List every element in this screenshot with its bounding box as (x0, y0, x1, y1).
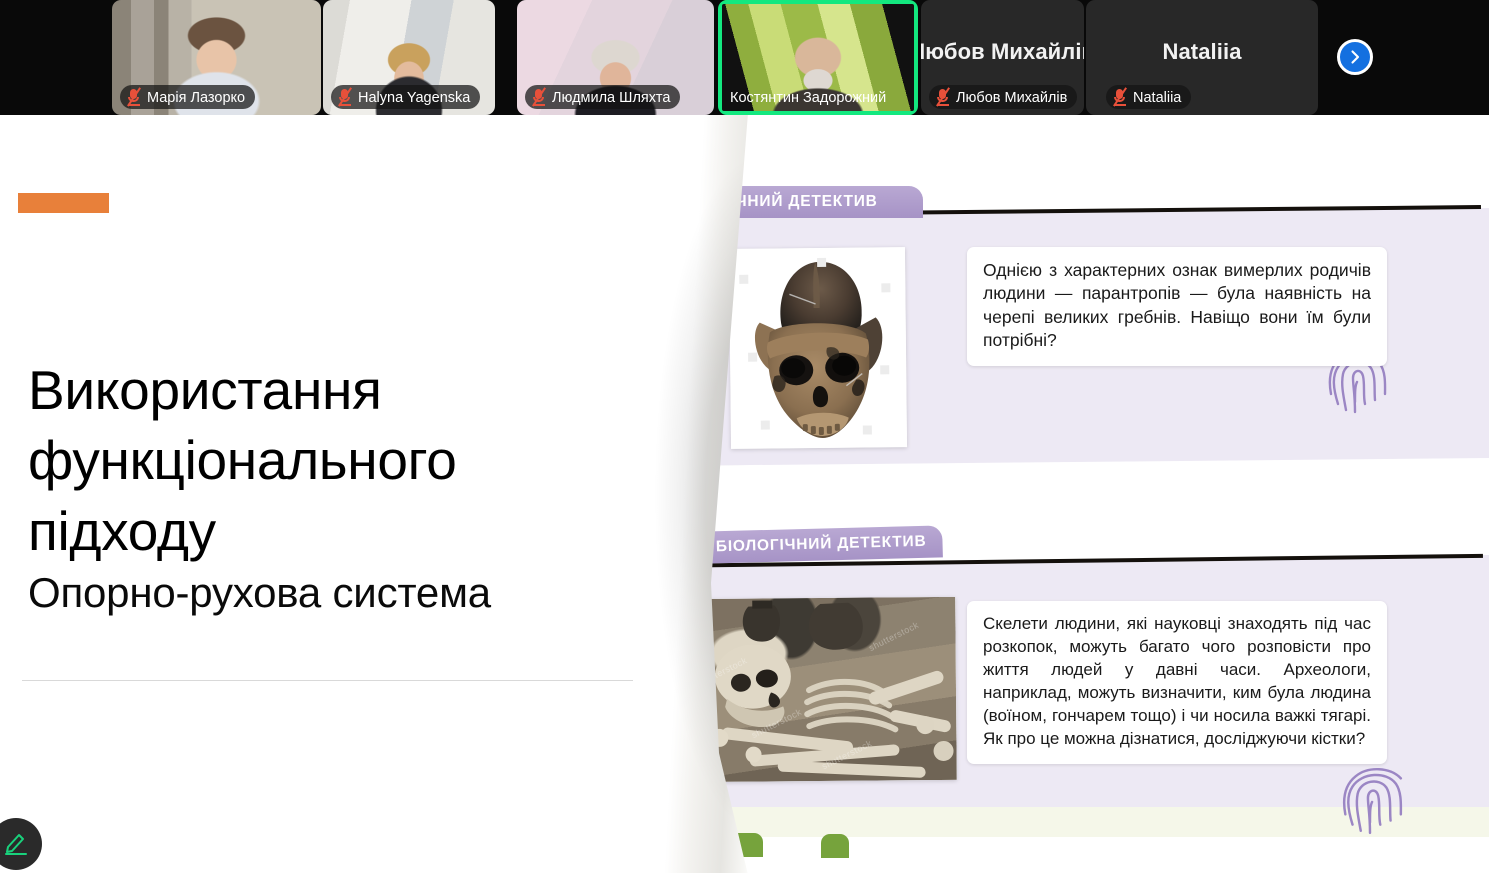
filmstrip-next-page-button[interactable] (1337, 39, 1373, 75)
participant-tile-4-active-speaker[interactable]: Костянтин Задорожний (718, 0, 918, 115)
watermark-dot (880, 365, 889, 374)
watermark-dot (748, 353, 757, 362)
microphone-muted-icon (337, 88, 352, 106)
participant-name-chip-3: Людмила Шляхта (525, 85, 680, 109)
participant-display-name-5: Любов Михайлів (921, 39, 1084, 65)
title-divider (22, 680, 642, 681)
participant-name-chip-6: Nataliia (1106, 85, 1191, 109)
participant-name-chip-4: Костянтин Задорожний (728, 85, 896, 109)
page-tab-2 (821, 834, 849, 858)
slide-accent-bar (18, 193, 109, 213)
fingerprint-icon (1333, 765, 1407, 844)
watermark-dot (739, 275, 748, 284)
participant-tile-5[interactable]: Любов Михайлів Любов Михайлів (921, 0, 1084, 115)
microphone-muted-icon (935, 88, 950, 106)
card-banner-label-2: БІОЛОГІЧНИЙ ДЕТЕКТИВ (716, 533, 927, 557)
card-banner-1: БІОЛОГІЧНИЙ ДЕТЕКТИВ (651, 186, 923, 218)
watermark-dot (817, 258, 826, 267)
participant-tile-6[interactable]: Nataliia Nataliia (1086, 0, 1318, 115)
card-1-question-text: Однією з характерних ознак вимерлих роди… (967, 247, 1387, 366)
chevron-right-icon (1346, 48, 1364, 66)
microphone-muted-icon (531, 88, 546, 106)
watermark-dot (863, 425, 872, 434)
participant-tile-2[interactable]: Halyna Yagenska (323, 0, 495, 115)
archaeological-skeleton-excavation-photo (690, 597, 957, 782)
participant-name-chip-5: Любов Михайлів (929, 85, 1077, 109)
shared-presentation-slide: Використання функціонального підходу Опо… (0, 115, 1489, 873)
watermark-dot (761, 421, 770, 430)
zoom-screen-share-window: Марія Лазорко Halyna Yagenska Людмила Шл… (0, 0, 1489, 873)
page-tab-1 (707, 833, 763, 857)
page-title: Використання функціонального підходу (28, 355, 648, 566)
participant-name-chip-2: Halyna Yagenska (331, 85, 480, 109)
card-banner-label-1: БІОЛОГІЧНИЙ ДЕТЕКТИВ (667, 193, 878, 211)
slide-title-block: Використання функціонального підходу Опо… (28, 355, 648, 619)
card-2-question-text: Скелети людини, які науковці знаходять п… (967, 601, 1387, 764)
microphone-muted-icon (1112, 88, 1127, 106)
participant-display-name-6: Nataliia (1162, 39, 1241, 65)
paranthropus-skull-photo (729, 247, 907, 449)
participant-tile-3[interactable]: Людмила Шляхта (517, 0, 714, 115)
microphone-muted-icon (126, 88, 141, 106)
participant-filmstrip: Марія Лазорко Halyna Yagenska Людмила Шл… (0, 0, 1489, 115)
card-banner-2: БІОЛОГІЧНИЙ ДЕТЕКТИВ (650, 525, 943, 565)
pen-annotate-icon (3, 829, 29, 860)
page-subtitle: Опорно-рухова система (28, 568, 648, 618)
card-2-image: shutterstock shutterstock shutterstock s… (690, 597, 957, 782)
participant-name-chip-1: Марія Лазорко (120, 85, 255, 109)
textbook-page-scan: БІОЛОГІЧНИЙ ДЕТЕКТИВ (633, 115, 1489, 873)
watermark-dot (881, 283, 890, 292)
participant-tile-1[interactable]: Марія Лазорко (112, 0, 321, 115)
card-1-image (729, 247, 907, 449)
